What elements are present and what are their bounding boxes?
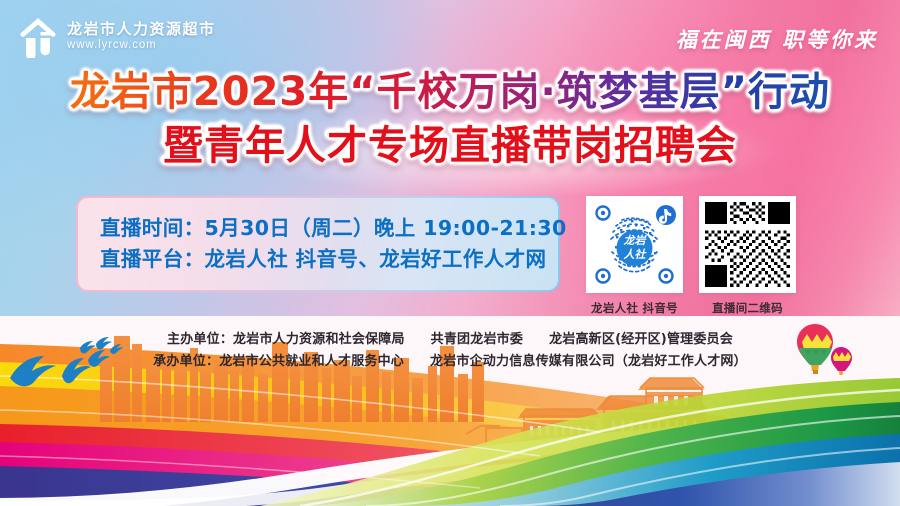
organizer-host-item-0: 龙岩市人力资源和社会保障局 <box>233 332 405 347</box>
douyin-qr-icon: 龙岩 人社 <box>586 196 683 293</box>
brand-name: 龙岩市人力资源超市 <box>67 22 216 37</box>
qrcode-live-item[interactable]: 直播间二维码 <box>699 196 796 316</box>
organizer-host-item-1: 共青团龙岩市委 <box>431 332 523 347</box>
organizer-co-item-1: 龙岩市企动力信息传媒有限公司（龙岩好工作人才网） <box>430 354 747 369</box>
live-platform-row: 直播平台：龙岩人社 抖音号、龙岩好工作人才网 <box>100 248 558 272</box>
organizer-co-label: 承办单位： <box>153 354 219 369</box>
svg-text:人社: 人社 <box>624 248 648 261</box>
organizer-line-host: 主办单位：龙岩市人力资源和社会保障局共青团龙岩市委龙岩高新区(经开区)管理委员会 <box>167 332 733 349</box>
organizer-co-item-0: 龙岩市公共就业和人才服务中心 <box>219 354 404 369</box>
svg-text:龙岩: 龙岩 <box>623 234 648 247</box>
brand-logo-block[interactable]: 龙岩市人力资源超市 www.lyrcw.com <box>18 16 216 58</box>
poster-canvas: 龙岩市人力资源超市 www.lyrcw.com 福在闽西 职等你来 龙岩市202… <box>0 0 900 506</box>
slogan-text: 福在闽西 职等你来 <box>676 24 878 54</box>
brand-url[interactable]: www.lyrcw.com <box>67 40 216 52</box>
organizer-line-organizer: 承办单位：龙岩市公共就业和人才服务中心龙岩市企动力信息传媒有限公司（龙岩好工作人… <box>153 354 747 371</box>
live-info-panel: 直播时间：5月30日（周二）晚上 19:00-21:30 直播平台：龙岩人社 抖… <box>76 196 560 292</box>
page-title: 龙岩市2023年“千校万岗·筑梦基层”行动 暨青年人才专场直播带岗招聘会 <box>0 70 900 169</box>
organizer-host-item-2: 龙岩高新区(经开区)管理委员会 <box>549 332 733 347</box>
qrcode-douyin-card[interactable]: 龙岩 人社 <box>586 196 683 293</box>
qrcode-live-card[interactable] <box>699 196 796 293</box>
title-line-1: 龙岩市2023年“千校万岗·筑梦基层”行动 <box>0 70 900 115</box>
live-time-row: 直播时间：5月30日（周二）晚上 19:00-21:30 <box>100 217 558 241</box>
qrcode-douyin-item[interactable]: 龙岩 人社 龙岩人社 抖音号 <box>586 196 683 316</box>
house-arch-logo-icon <box>18 16 58 58</box>
organizer-host-label: 主办单位： <box>167 332 233 347</box>
qrcode-douyin-caption: 龙岩人社 抖音号 <box>591 300 678 316</box>
title-line-2: 暨青年人才专场直播带岗招聘会 <box>0 124 900 169</box>
qrcode-live-caption: 直播间二维码 <box>712 300 783 316</box>
qr-code-icon <box>702 199 793 290</box>
qrcode-group: 龙岩 人社 龙岩人社 抖音号 <box>586 196 796 316</box>
organizers-block: 主办单位：龙岩市人力资源和社会保障局共青团龙岩市委龙岩高新区(经开区)管理委员会… <box>0 332 900 371</box>
